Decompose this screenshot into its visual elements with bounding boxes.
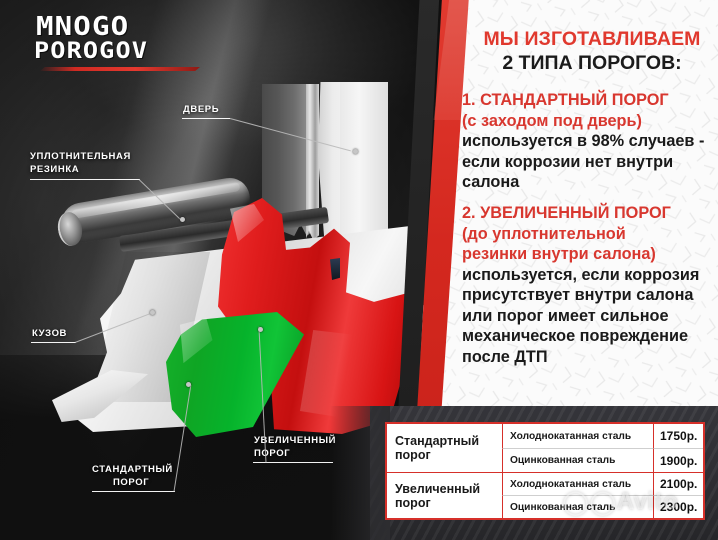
- logo-red-bar: [40, 67, 200, 71]
- table-backdrop-fade: [330, 406, 390, 540]
- callout-enlarged-label-line1: УВЕЛИЧЕННЫЙ: [254, 434, 336, 447]
- price-table: Стандартный порог Холоднокатанная сталь …: [385, 422, 705, 520]
- table-cell-material: Оцинкованная сталь: [502, 449, 653, 473]
- callout-body-dot: [150, 310, 155, 315]
- info-block-enlarged: 2. УВЕЛИЧЕННЫЙ ПОРОГ (до уплотнительной …: [462, 203, 714, 367]
- table-cell-price: 2100р.: [653, 473, 703, 496]
- block2-subtitle-line2: резинки внутри салона): [462, 244, 714, 265]
- block1-body: используется в 98% случаев - если корроз…: [462, 131, 714, 193]
- callout-seal-label-line1: УПЛОТНИТЕЛЬНАЯ: [30, 150, 131, 163]
- callout-door-dot: [353, 149, 358, 154]
- callout-standard-label-line1: СТАНДАРТНЫЙ: [92, 463, 173, 476]
- header-line1: МЫ ИЗГОТАВЛИВАЕМ: [463, 28, 718, 51]
- callout-body-label: КУЗОВ: [32, 327, 67, 340]
- header-line2: 2 ТИПА ПОРОГОВ:: [463, 52, 718, 75]
- block1-title: 1. СТАНДАРТНЫЙ ПОРОГ: [462, 90, 714, 111]
- callout-standard-underline: [92, 491, 175, 492]
- table-cell-price: 2300р.: [653, 496, 703, 518]
- callout-standard-dot: [186, 382, 191, 387]
- block2-subtitle-line1: (до уплотнительной: [462, 224, 714, 245]
- callout-enlarged-label-line2: ПОРОГ: [254, 447, 290, 460]
- logo-line2: POROGOV: [34, 40, 148, 63]
- table-cell-price: 1750р.: [653, 424, 703, 449]
- callout-door-underline: [182, 118, 230, 119]
- callout-enlarged-dot: [258, 327, 263, 332]
- block1-subtitle: (с заходом под дверь): [462, 111, 714, 132]
- callout-body-underline: [31, 342, 76, 343]
- table-row-category-enlarged: Увеличенный порог: [387, 473, 502, 518]
- table-cell-material: Оцинкованная сталь: [502, 496, 653, 518]
- callout-standard-label-line2: ПОРОГ: [113, 476, 149, 489]
- table-row-category-standard: Стандартный порог: [387, 424, 502, 473]
- table-cell-price: 1900р.: [653, 449, 703, 473]
- callout-door-label: ДВЕРЬ: [183, 103, 219, 116]
- brand-logo[interactable]: MNOGO POROGOV: [34, 14, 204, 70]
- panel-header: МЫ ИЗГОТАВЛИВАЕМ 2 ТИПА ПОРОГОВ:: [441, 0, 718, 80]
- callout-seal-label-line2: РЕЗИНКА: [30, 163, 79, 176]
- callout-seal-underline: [30, 179, 140, 180]
- block2-title: 2. УВЕЛИЧЕННЫЙ ПОРОГ: [462, 203, 714, 224]
- table-cell-material: Холоднокатанная сталь: [502, 424, 653, 449]
- block2-body: используется, если коррозия присутствует…: [462, 265, 714, 368]
- info-block-standard: 1. СТАНДАРТНЫЙ ПОРОГ (с заходом под двер…: [462, 90, 714, 193]
- logo-line1: MNOGO: [36, 14, 129, 40]
- callout-seal-dot: [180, 217, 185, 222]
- table-cell-material: Холоднокатанная сталь: [502, 473, 653, 496]
- promo-banner: ДВЕРЬ УПЛОТНИТЕЛЬНАЯ РЕЗИНКА КУЗОВ СТАНД…: [0, 0, 718, 540]
